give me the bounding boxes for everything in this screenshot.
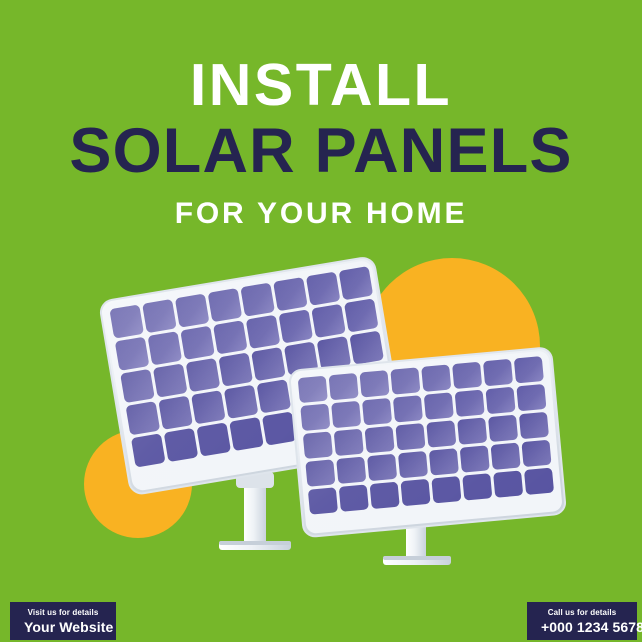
website-badge-value: Your Website (24, 618, 102, 636)
phone-badge-caption: Call us for details (541, 607, 623, 618)
headline-block: INSTALL SOLAR PANELS FOR YOUR HOME (0, 54, 642, 232)
front-solar-panel (289, 347, 566, 565)
page-subtitle: FOR YOUR HOME (0, 196, 642, 232)
solar-panel-promo-poster: INSTALL SOLAR PANELS FOR YOUR HOME Visit… (0, 0, 642, 642)
front-panel-body (289, 347, 566, 537)
website-badge-caption: Visit us for details (24, 607, 102, 618)
phone-badge-value: +000 1234 5678 (541, 618, 623, 636)
back-panel-stand (219, 472, 291, 550)
page-title-line-1: INSTALL (0, 54, 642, 116)
page-title-line-2: SOLAR PANELS (0, 118, 642, 184)
phone-badge[interactable]: Call us for details +000 1234 5678 (527, 602, 637, 640)
website-badge[interactable]: Visit us for details Your Website (10, 602, 116, 640)
